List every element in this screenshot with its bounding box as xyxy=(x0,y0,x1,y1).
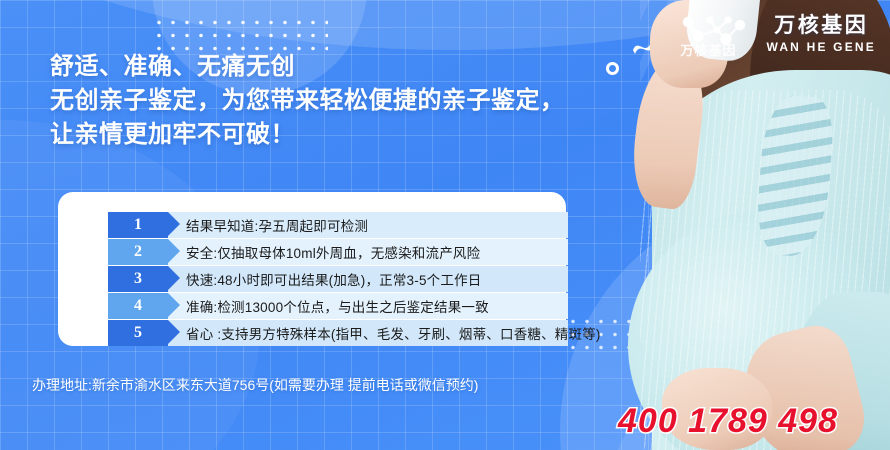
feature-row: 2安全:仅抽取母体10ml外周血，无感染和流产风险 xyxy=(108,239,568,265)
promo-banner: 万核基因 万核基因 WAN HE GENE 舒适、准确、无痛无创 无创亲子鉴定，… xyxy=(0,0,890,450)
feature-text: 省心 :支持男方特殊样本(指甲、毛发、牙刷、烟蒂、口香糖、精斑等) xyxy=(186,320,601,346)
logo-mark-text: 万核基因 xyxy=(680,40,736,59)
headline-line-2: 无创亲子鉴定，为您带来轻松便捷的亲子鉴定， xyxy=(50,84,565,118)
feature-number-badge: 3 xyxy=(108,266,168,292)
feature-number-badge: 2 xyxy=(108,239,168,265)
feature-number-badge: 5 xyxy=(108,320,168,346)
headline: 舒适、准确、无痛无创 无创亲子鉴定，为您带来轻松便捷的亲子鉴定， 让亲情更加牢不… xyxy=(50,50,565,152)
features-list: 1结果早知道:孕五周起即可检测2安全:仅抽取母体10ml外周血，无感染和流产风险… xyxy=(108,212,568,347)
feature-text: 安全:仅抽取母体10ml外周血，无感染和流产风险 xyxy=(186,239,480,265)
feature-text: 结果早知道:孕五周起即可检测 xyxy=(186,212,368,238)
feature-number-badge: 1 xyxy=(108,212,168,238)
headline-line-1: 舒适、准确、无痛无创 xyxy=(50,50,565,84)
feature-text: 快速:48小时即可出结果(加急)，正常3-5个工作日 xyxy=(186,266,481,292)
headline-line-3: 让亲情更加牢不可破！ xyxy=(50,118,565,152)
phone-number[interactable]: 400 1789 498 xyxy=(618,402,838,441)
feature-text: 准确:检测13000个位点，与出生之后鉴定结果一致 xyxy=(186,293,489,319)
feature-number-badge: 4 xyxy=(108,293,168,319)
molecule-network-icon: 万核基因 xyxy=(676,8,758,60)
feature-row: 3快速:48小时即可出结果(加急)，正常3-5个工作日 xyxy=(108,266,568,292)
feature-row: 4准确:检测13000个位点，与出生之后鉴定结果一致 xyxy=(108,293,568,319)
feature-row: 1结果早知道:孕五周起即可检测 xyxy=(108,212,568,238)
logo-name-cn: 万核基因 xyxy=(774,14,868,37)
feature-row: 5省心 :支持男方特殊样本(指甲、毛发、牙刷、烟蒂、口香糖、精斑等) xyxy=(108,320,568,346)
address-text: 办理地址:新余市渝水区来东大道756号(如需要办理 提前电话或微信预约) xyxy=(32,375,478,395)
pregnant-woman-photo xyxy=(600,0,890,450)
brand-logo[interactable]: 万核基因 万核基因 WAN HE GENE xyxy=(676,8,876,60)
logo-name-en: WAN HE GENE xyxy=(766,40,876,54)
